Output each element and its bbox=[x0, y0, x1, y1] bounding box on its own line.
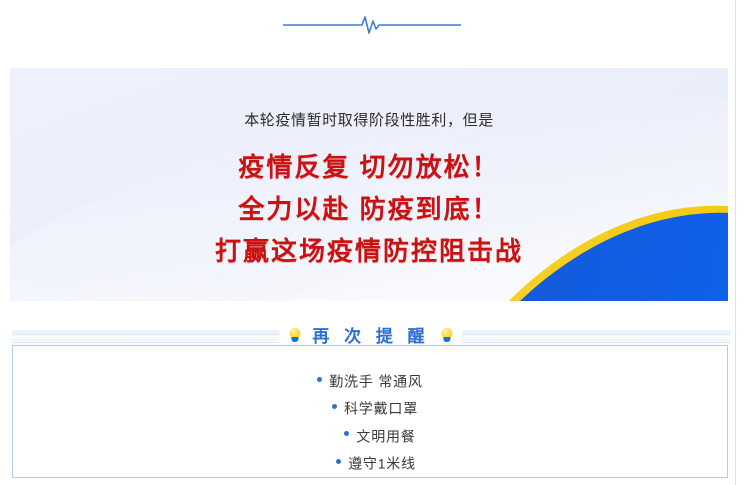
lightbulb-icon-right bbox=[442, 328, 453, 342]
bullet-dot-icon bbox=[317, 377, 322, 382]
page-frame: 本轮疫情暂时取得阶段性胜利，但是 疫情反复 切勿放松！ 全力以赴 防疫到底！ 打… bbox=[0, 0, 756, 485]
slogan-banner: 本轮疫情暂时取得阶段性胜利，但是 疫情反复 切勿放松！ 全力以赴 防疫到底！ 打… bbox=[10, 68, 728, 301]
list-item: 遵守1米线 bbox=[13, 449, 727, 476]
ecg-heartbeat-icon bbox=[283, 12, 461, 38]
bullet-dot-icon bbox=[332, 404, 337, 409]
list-item: 勤洗手 常通风 bbox=[13, 367, 727, 394]
list-item: 科学戴口罩 bbox=[13, 394, 727, 421]
lightbulb-icon-left bbox=[289, 328, 300, 342]
slogan-line-1: 疫情反复 切勿放松！ bbox=[10, 146, 728, 188]
slogan-line-3: 打赢这场疫情防控阻击战 bbox=[10, 230, 728, 272]
bullet-dot-icon bbox=[336, 459, 341, 464]
lightbulb-base bbox=[444, 337, 451, 342]
bullet-dot-icon bbox=[344, 431, 349, 436]
ecg-divider bbox=[283, 12, 461, 38]
list-item-label: 科学戴口罩 bbox=[344, 401, 418, 417]
slogan-lead-text: 本轮疫情暂时取得阶段性胜利，但是 bbox=[10, 110, 728, 132]
list-item: 文明用餐 bbox=[13, 422, 727, 449]
slogan-line-2: 全力以赴 防疫到底！ bbox=[10, 188, 728, 230]
remind-list-box: 勤洗手 常通风 科学戴口罩 文明用餐 遵守1米线 bbox=[12, 345, 728, 478]
slogan-text-group: 本轮疫情暂时取得阶段性胜利，但是 疫情反复 切勿放松！ 全力以赴 防疫到底！ 打… bbox=[10, 68, 728, 272]
list-item-label: 文明用餐 bbox=[356, 428, 415, 444]
lightbulb-base bbox=[291, 337, 298, 342]
remind-list: 勤洗手 常通风 科学戴口罩 文明用餐 遵守1米线 bbox=[13, 346, 727, 476]
list-item-label: 勤洗手 常通风 bbox=[329, 373, 423, 389]
list-item-label: 遵守1米线 bbox=[348, 455, 416, 471]
remind-title: 再 次 提 醒 bbox=[312, 322, 429, 347]
remind-title-wrap: 再 次 提 醒 bbox=[279, 322, 462, 347]
